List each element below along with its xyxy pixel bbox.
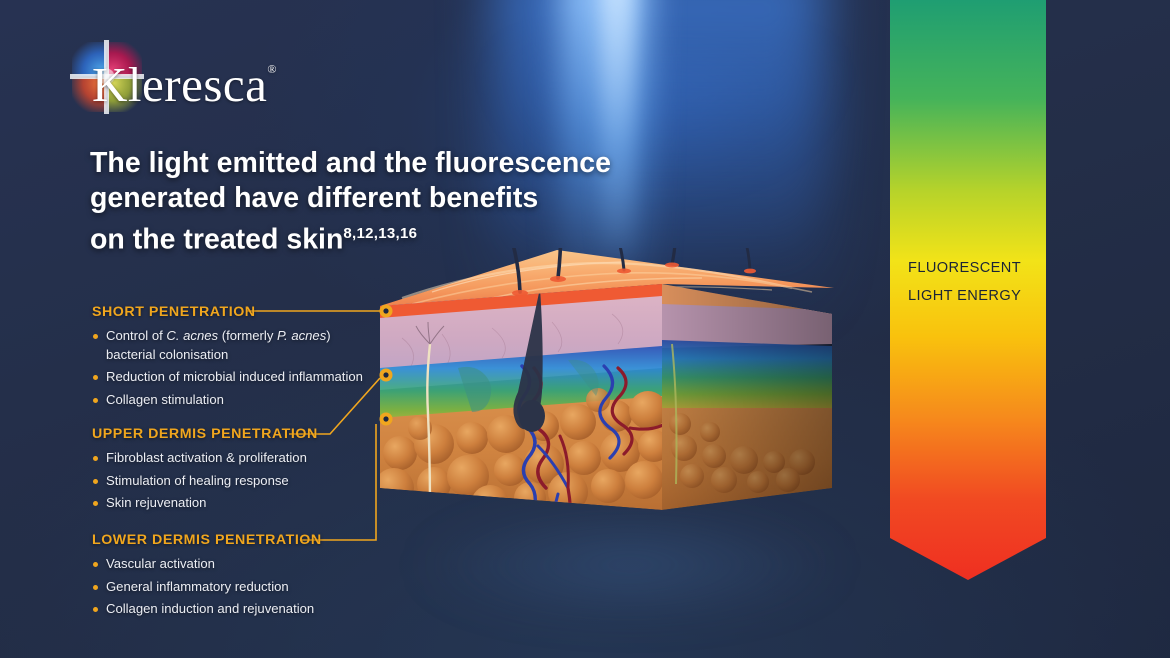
section-short-penetration: SHORT PENETRATION Control of C. acnes (f… [92, 304, 363, 413]
bullet-list-lower-dermis: Vascular activation General inflammatory… [92, 555, 322, 619]
bullet-text: Reduction of microbial induced inflammat… [106, 369, 363, 384]
section-upper-dermis-penetration: UPPER DERMIS PENETRATION Fibroblast acti… [92, 426, 318, 517]
energy-label-line-2: LIGHT ENERGY [908, 282, 1038, 310]
page-title: The light emitted and the fluorescence g… [90, 146, 650, 258]
bullet-text: Collagen induction and rejuvenation [106, 601, 314, 616]
headline-line-3: on the treated skin8,12,13,16 [90, 216, 650, 258]
bullet-text: Stimulation of healing response [106, 473, 289, 488]
list-item: General inflammatory reduction [92, 578, 322, 597]
energy-label-line-1: FLUORESCENT [908, 254, 1038, 282]
list-item: Control of C. acnes (formerly P. acnes)b… [92, 327, 363, 364]
bullet-middle: (formerly [218, 328, 277, 343]
list-item: Fibroblast activation & proliferation [92, 449, 318, 468]
bullet-text: General inflammatory reduction [106, 579, 289, 594]
species-name-2: P. acnes [277, 328, 326, 343]
list-item: Reduction of microbial induced inflammat… [92, 368, 363, 387]
brand-wordmark: Kleresca® [92, 56, 267, 113]
bullet-text: Skin rejuvenation [106, 495, 206, 510]
list-item: Stimulation of healing response [92, 472, 318, 491]
headline-line-1: The light emitted and the fluorescence [90, 146, 650, 181]
headline-line-3-text: on the treated skin [90, 224, 343, 256]
list-item: Skin rejuvenation [92, 494, 318, 513]
section-lower-dermis-penetration: LOWER DERMIS PENETRATION Vascular activa… [92, 532, 322, 623]
section-title-lower-dermis: LOWER DERMIS PENETRATION [92, 532, 322, 548]
headline-references: 8,12,13,16 [343, 225, 417, 242]
energy-bar-label: FLUORESCENT LIGHT ENERGY [908, 254, 1038, 310]
bullet-suffix: ) [326, 328, 330, 343]
section-title-short-penetration: SHORT PENETRATION [92, 304, 363, 320]
bullet-text: Vascular activation [106, 556, 215, 571]
list-item: Collagen stimulation [92, 391, 363, 410]
headline-line-2: generated have different benefits [90, 181, 650, 216]
species-name-1: C. acnes [166, 328, 218, 343]
bullet-text: Control of [106, 328, 166, 343]
brand-logo: Kleresca® [70, 40, 330, 120]
list-item: Vascular activation [92, 555, 322, 574]
bullet-list-short-penetration: Control of C. acnes (formerly P. acnes)b… [92, 327, 363, 409]
infographic-canvas: Kleresca® The light emitted and the fluo… [0, 0, 1170, 658]
skin-cross-section-illustration [372, 248, 840, 548]
bullet-text: Fibroblast activation & proliferation [106, 450, 307, 465]
brand-name: Kleresca [92, 57, 267, 112]
list-item: Collagen induction and rejuvenation [92, 600, 322, 619]
registered-mark: ® [267, 62, 277, 77]
bullet-list-upper-dermis: Fibroblast activation & proliferation St… [92, 449, 318, 513]
bullet-text: Collagen stimulation [106, 392, 224, 407]
section-title-upper-dermis: UPPER DERMIS PENETRATION [92, 426, 318, 442]
bullet-second-line: bacterial colonisation [106, 347, 228, 362]
